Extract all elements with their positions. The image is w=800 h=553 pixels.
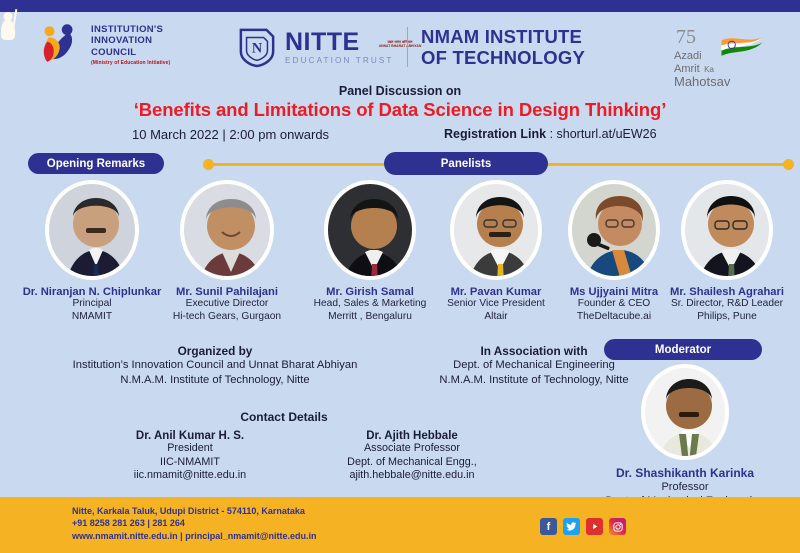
connector-dot-left bbox=[203, 159, 214, 170]
youtube-icon[interactable] bbox=[586, 518, 603, 535]
moderator-name: Dr. Shashikanth Karinka bbox=[592, 466, 778, 480]
avatar-photo bbox=[685, 184, 773, 280]
iic-ministry-subtitle: (Ministry of Education Initiative) bbox=[91, 60, 170, 66]
avatar bbox=[45, 180, 139, 280]
organized-by-line-2: N.M.A.M. Institute of Technology, Nitte bbox=[40, 373, 390, 388]
avatar-photo bbox=[645, 368, 729, 460]
event-poster: INSTITUTION'S INNOVATION COUNCIL (Minist… bbox=[0, 0, 800, 553]
contact-line-1: President bbox=[90, 442, 290, 456]
contact-name: Dr. Ajith Hebbale bbox=[296, 430, 528, 442]
avatar-photo bbox=[328, 184, 416, 280]
nitte-logo: N NITTE EDUCATION TRUST NMAM INSTITUTE O… bbox=[238, 26, 585, 68]
nmamit-line-1: NMAM INSTITUTE bbox=[421, 26, 585, 47]
iic-logo-mark bbox=[38, 22, 84, 68]
event-datetime: 10 March 2022 | 2:00 pm onwards bbox=[132, 127, 329, 142]
contact-email[interactable]: iic.nmamit@nitte.edu.in bbox=[90, 469, 290, 483]
nitte-wordmark: NITTE bbox=[285, 29, 394, 55]
connector-dot-right bbox=[783, 159, 794, 170]
contact-email[interactable]: ajith.hebbale@nitte.edu.in bbox=[296, 469, 528, 483]
footer-contact-block: Nitte, Karkala Taluk, Udupi District - 5… bbox=[72, 505, 316, 543]
person-role-2: NMAMIT bbox=[12, 311, 172, 324]
azadi-ka-amrit-mahotsav-logo: 75 Azadi Amrit Ka Mahotsav bbox=[672, 26, 764, 78]
contact-line-2: Dept. of Mechanical Engg., bbox=[296, 456, 528, 470]
avatar-photo bbox=[49, 184, 139, 280]
footer-phone: +91 8258 281 263 | 281 264 bbox=[72, 517, 316, 530]
logo-divider bbox=[407, 27, 409, 67]
avatar bbox=[324, 180, 416, 280]
iic-line-3: COUNCIL bbox=[91, 47, 170, 59]
person-role-1: Principal bbox=[12, 298, 172, 311]
person-name: Mr. Sunil Pahilajani bbox=[152, 286, 302, 298]
registration-url[interactable]: shorturl.at/uEW26 bbox=[557, 127, 657, 141]
badge-moderator: Moderator bbox=[604, 339, 762, 360]
top-accent-bar bbox=[0, 0, 800, 12]
person-card: Mr. Sunil Pahilajani Executive Director … bbox=[152, 180, 302, 323]
badge-opening-remarks: Opening Remarks bbox=[28, 153, 164, 174]
organized-by-line-1: Institution’s Innovation Council and Unn… bbox=[40, 358, 390, 373]
svg-text:N: N bbox=[252, 41, 263, 57]
iic-line-2: INNOVATION bbox=[91, 35, 170, 47]
person-card: Mr. Shailesh Agrahari Sr. Director, R&D … bbox=[654, 180, 800, 323]
avatar bbox=[180, 180, 274, 280]
contact-details-heading: Contact Details bbox=[40, 410, 528, 424]
organized-by-heading: Organized by bbox=[40, 344, 390, 358]
date-registration-row: 10 March 2022 | 2:00 pm onwards Registra… bbox=[0, 127, 800, 147]
moderator-role-1: Professor bbox=[592, 480, 778, 494]
person-card: Dr. Niranjan N. Chiplunkar Principal NMA… bbox=[12, 180, 172, 323]
organized-by-block: Organized by Institution’s Innovation Co… bbox=[40, 344, 390, 387]
poster-header: INSTITUTION'S INNOVATION COUNCIL (Minist… bbox=[0, 12, 800, 84]
iic-logo: INSTITUTION'S INNOVATION COUNCIL (Minist… bbox=[38, 22, 170, 68]
footer-address: Nitte, Karkala Taluk, Udupi District - 5… bbox=[72, 505, 316, 518]
avatar bbox=[681, 180, 773, 280]
registration-link-row[interactable]: Registration Link : shorturl.at/uEW26 bbox=[444, 127, 657, 141]
panel-discussion-kicker: Panel Discussion on bbox=[0, 84, 800, 98]
gandhi-figure-icon bbox=[0, 12, 16, 40]
person-name: Dr. Niranjan N. Chiplunkar bbox=[12, 286, 172, 298]
avatar-photo bbox=[572, 184, 660, 280]
iic-line-1: INSTITUTION'S bbox=[91, 24, 170, 36]
nmamit-line-2: OF TECHNOLOGY bbox=[421, 47, 585, 68]
person-name: Mr. Shailesh Agrahari bbox=[654, 286, 800, 298]
moderator-card: Dr. Shashikanth Karinka Professor Dept. … bbox=[592, 364, 778, 508]
contact-line-2: IIC-NMAMIT bbox=[90, 456, 290, 470]
registration-separator: : bbox=[546, 127, 556, 141]
contact-name: Dr. Anil Kumar H. S. bbox=[90, 430, 290, 442]
page-title: ‘Benefits and Limitations of Data Scienc… bbox=[0, 99, 800, 121]
contact-person-left: Dr. Anil Kumar H. S. President IIC-NMAMI… bbox=[90, 430, 290, 483]
person-role-2: Philips, Pune bbox=[654, 311, 800, 324]
footer-web[interactable]: www.nmamit.nitte.edu.in | principal_nmam… bbox=[72, 530, 316, 543]
azadi-75-number: 75 bbox=[676, 26, 696, 49]
avatar-photo bbox=[184, 184, 274, 280]
nitte-shield-icon: N bbox=[238, 26, 276, 68]
person-role-2: Hi-tech Gears, Gurgaon bbox=[152, 311, 302, 324]
avatar bbox=[450, 180, 542, 280]
contact-line-1: Associate Professor bbox=[296, 442, 528, 456]
twitter-icon[interactable] bbox=[563, 518, 580, 535]
contact-person-right: Dr. Ajith Hebbale Associate Professor De… bbox=[296, 430, 528, 483]
instagram-icon[interactable] bbox=[609, 518, 626, 535]
registration-label: Registration Link bbox=[444, 127, 546, 141]
person-role-1: Sr. Director, R&D Leader bbox=[654, 298, 800, 311]
avatar bbox=[568, 180, 660, 280]
avatar-photo bbox=[454, 184, 542, 280]
azadi-ka-text: Ka bbox=[704, 65, 714, 74]
person-role-1: Executive Director bbox=[152, 298, 302, 311]
badge-panelists: Panelists bbox=[384, 152, 548, 175]
avatar bbox=[641, 364, 729, 460]
social-links: f bbox=[540, 518, 626, 535]
facebook-icon[interactable]: f bbox=[540, 518, 557, 535]
nitte-tagline: EDUCATION TRUST bbox=[285, 56, 394, 65]
azadi-text-line-1: Azadi bbox=[674, 50, 764, 62]
